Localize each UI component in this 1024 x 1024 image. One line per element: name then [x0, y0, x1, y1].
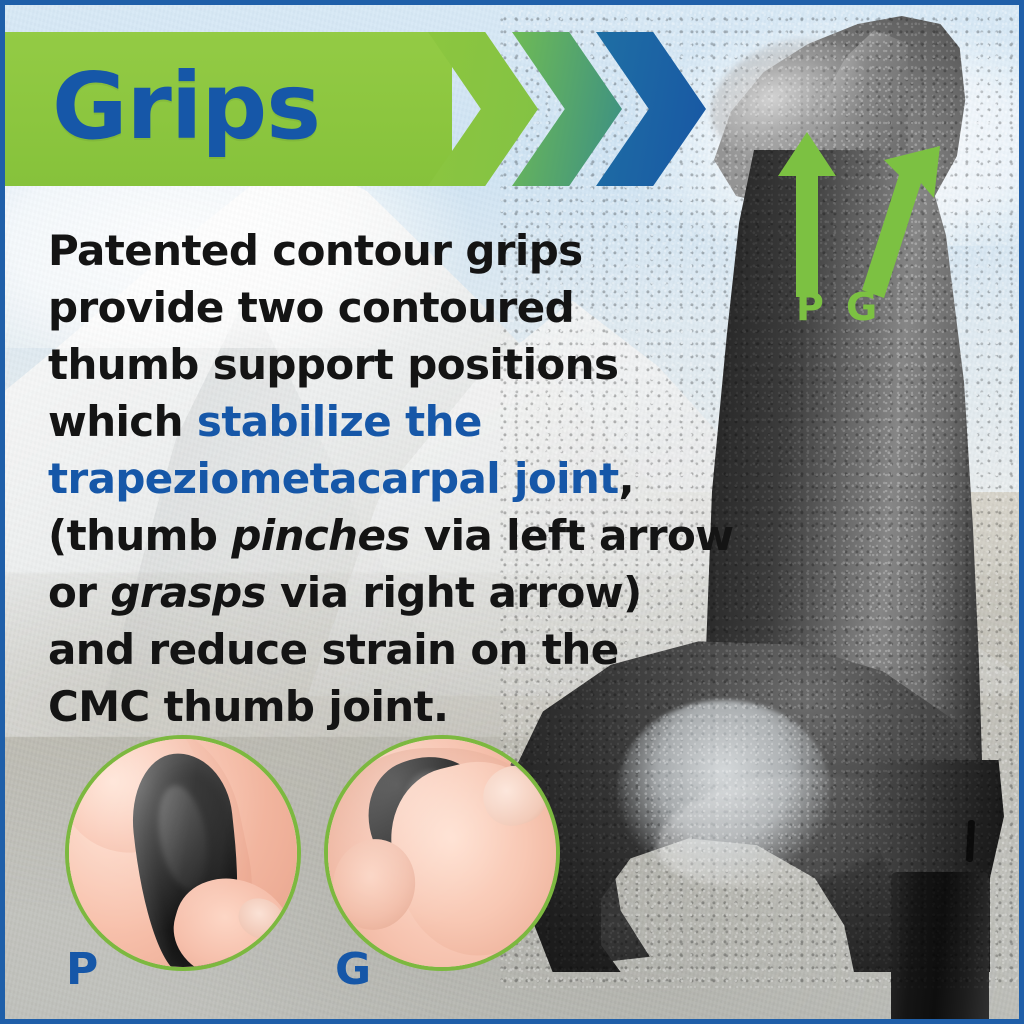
body-copy-line: or grasps via right arrow)	[48, 564, 720, 621]
page-title: Grips	[52, 61, 320, 153]
body-copy-run: provide two contoured	[48, 283, 574, 332]
body-copy-line: Patented contour grips	[48, 222, 720, 279]
grip-letter-p: P	[796, 288, 824, 326]
body-copy-run: or	[48, 568, 110, 617]
body-copy-run: thumb support positions	[48, 340, 618, 389]
inset-photo-pinch	[65, 735, 301, 971]
body-copy-run: pinches	[231, 511, 409, 560]
arrow-up-right-icon	[862, 146, 940, 298]
header-banner: Grips	[0, 32, 660, 186]
body-copy-run: stabilize the	[197, 397, 482, 446]
inset-label-g: G	[335, 948, 371, 992]
body-copy-line: thumb support positions	[48, 336, 720, 393]
body-copy-run: via right arrow)	[266, 568, 642, 617]
body-copy-run: trapeziometacarpal joint	[48, 454, 619, 503]
body-copy-run: grasps	[110, 568, 266, 617]
body-copy-line: provide two contoured	[48, 279, 720, 336]
cane-shaft-tube	[891, 872, 989, 1024]
body-copy-run: Patented contour grips	[48, 226, 583, 275]
body-copy-line: which stabilize the	[48, 393, 720, 450]
body-copy: Patented contour gripsprovide two contou…	[48, 222, 720, 735]
arrow-up-icon	[778, 132, 836, 297]
body-copy-line: trapeziometacarpal joint,	[48, 450, 720, 507]
body-copy-line: CMC thumb joint.	[48, 678, 720, 735]
body-copy-run: via left arrow	[410, 511, 734, 560]
body-copy-run: ,	[619, 454, 634, 503]
grip-letter-g: G	[846, 288, 877, 326]
body-copy-line: (thumb pinches via left arrow	[48, 507, 720, 564]
body-copy-run: which	[48, 397, 197, 446]
body-copy-run: and reduce strain on the	[48, 625, 619, 674]
chevron-blue-icon	[596, 32, 706, 186]
body-copy-run: CMC thumb joint.	[48, 682, 448, 731]
inset-photo-grasp	[324, 735, 560, 971]
inset-label-p: P	[66, 948, 98, 992]
body-copy-run: (thumb	[48, 511, 231, 560]
body-copy-line: and reduce strain on the	[48, 621, 720, 678]
grips-infographic: P G Grips Patented contour gripsprovide …	[0, 0, 1024, 1024]
